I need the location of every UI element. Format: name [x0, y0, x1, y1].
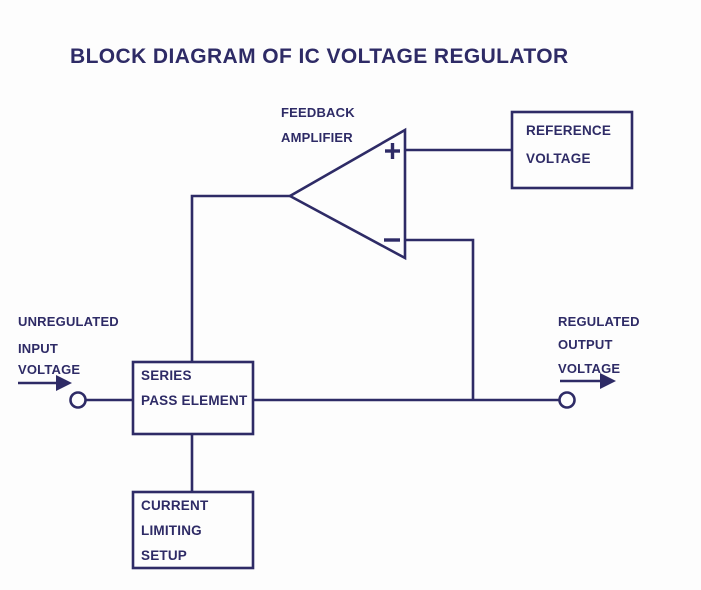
current-limiting-setup-label-line2: LIMITING — [141, 524, 202, 538]
regulated-output-label-line2: OUTPUT — [558, 338, 613, 351]
unregulated-input-label-line1: UNREGULATED — [18, 315, 119, 328]
current-limiting-setup-label-line1: CURRENT — [141, 499, 208, 513]
diagram-vector-layer — [0, 0, 701, 590]
unregulated-input-label-line2: INPUT — [18, 342, 58, 355]
reference-voltage-label-line1: REFERENCE — [526, 124, 611, 138]
input-terminal-circle — [71, 393, 86, 408]
regulated-output-label-line3: VOLTAGE — [558, 362, 620, 375]
reference-voltage-label-line2: VOLTAGE — [526, 152, 591, 166]
regulated-output-label-line1: REGULATED — [558, 315, 640, 328]
current-limiting-setup-label-line3: SETUP — [141, 549, 187, 563]
wire-amplifier-to-series-pass — [192, 196, 290, 362]
plus-sign-icon — [385, 143, 400, 159]
block-diagram-canvas: BLOCK DIAGRAM OF IC VOLTAGE REGULATOR FE… — [0, 0, 701, 590]
page-title: BLOCK DIAGRAM OF IC VOLTAGE REGULATOR — [70, 46, 569, 67]
input-direction-arrow — [18, 375, 72, 391]
feedback-amplifier-label-line1: FEEDBACK — [281, 106, 355, 119]
wire-minus-feedback — [405, 240, 473, 400]
series-pass-element-label-line1: SERIES — [141, 369, 192, 383]
series-pass-element-label-line2: PASS ELEMENT — [141, 394, 247, 408]
unregulated-input-label-line3: VOLTAGE — [18, 363, 80, 376]
output-terminal-circle — [560, 393, 575, 408]
feedback-amplifier-label-line2: AMPLIFIER — [281, 131, 353, 144]
